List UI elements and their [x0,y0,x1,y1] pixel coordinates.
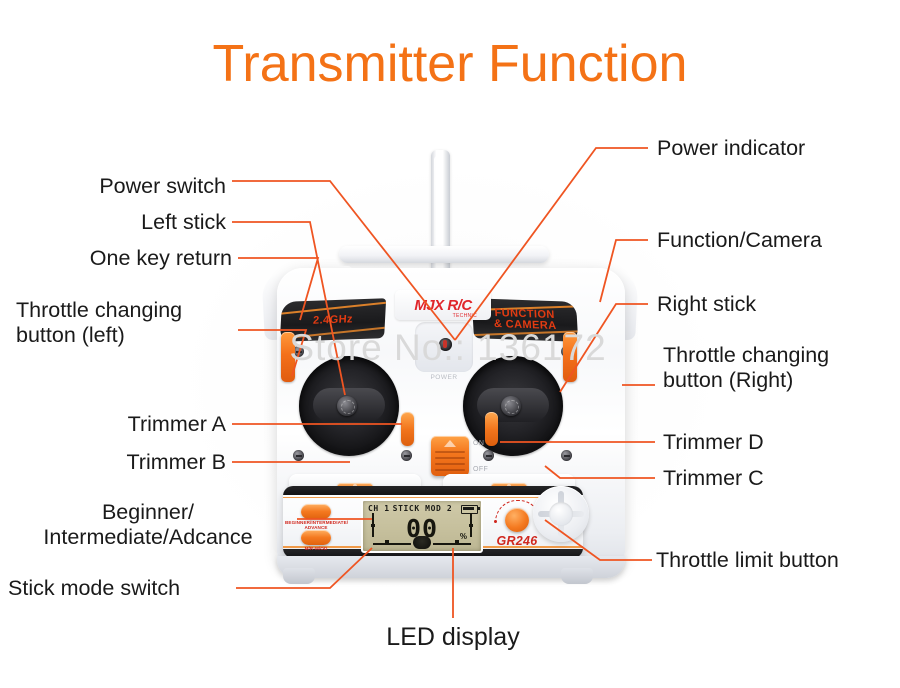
leader-stick-mode-switch [236,548,372,588]
leader-throttle-limit [545,520,652,560]
leader-trimmer-c [545,466,655,478]
leader-right-stick [560,304,648,392]
leader-throttle-changing-left [238,330,306,376]
leader-one-key-return [238,258,318,320]
leader-left-stick [232,222,345,395]
leader-power-indicator [455,148,648,340]
illustration-canvas: Transmitter Function 2.4GHz FUNCTION & C… [0,0,900,688]
leader-function-camera [600,240,648,302]
leader-power-switch [232,181,455,340]
leader-lines [0,0,900,688]
